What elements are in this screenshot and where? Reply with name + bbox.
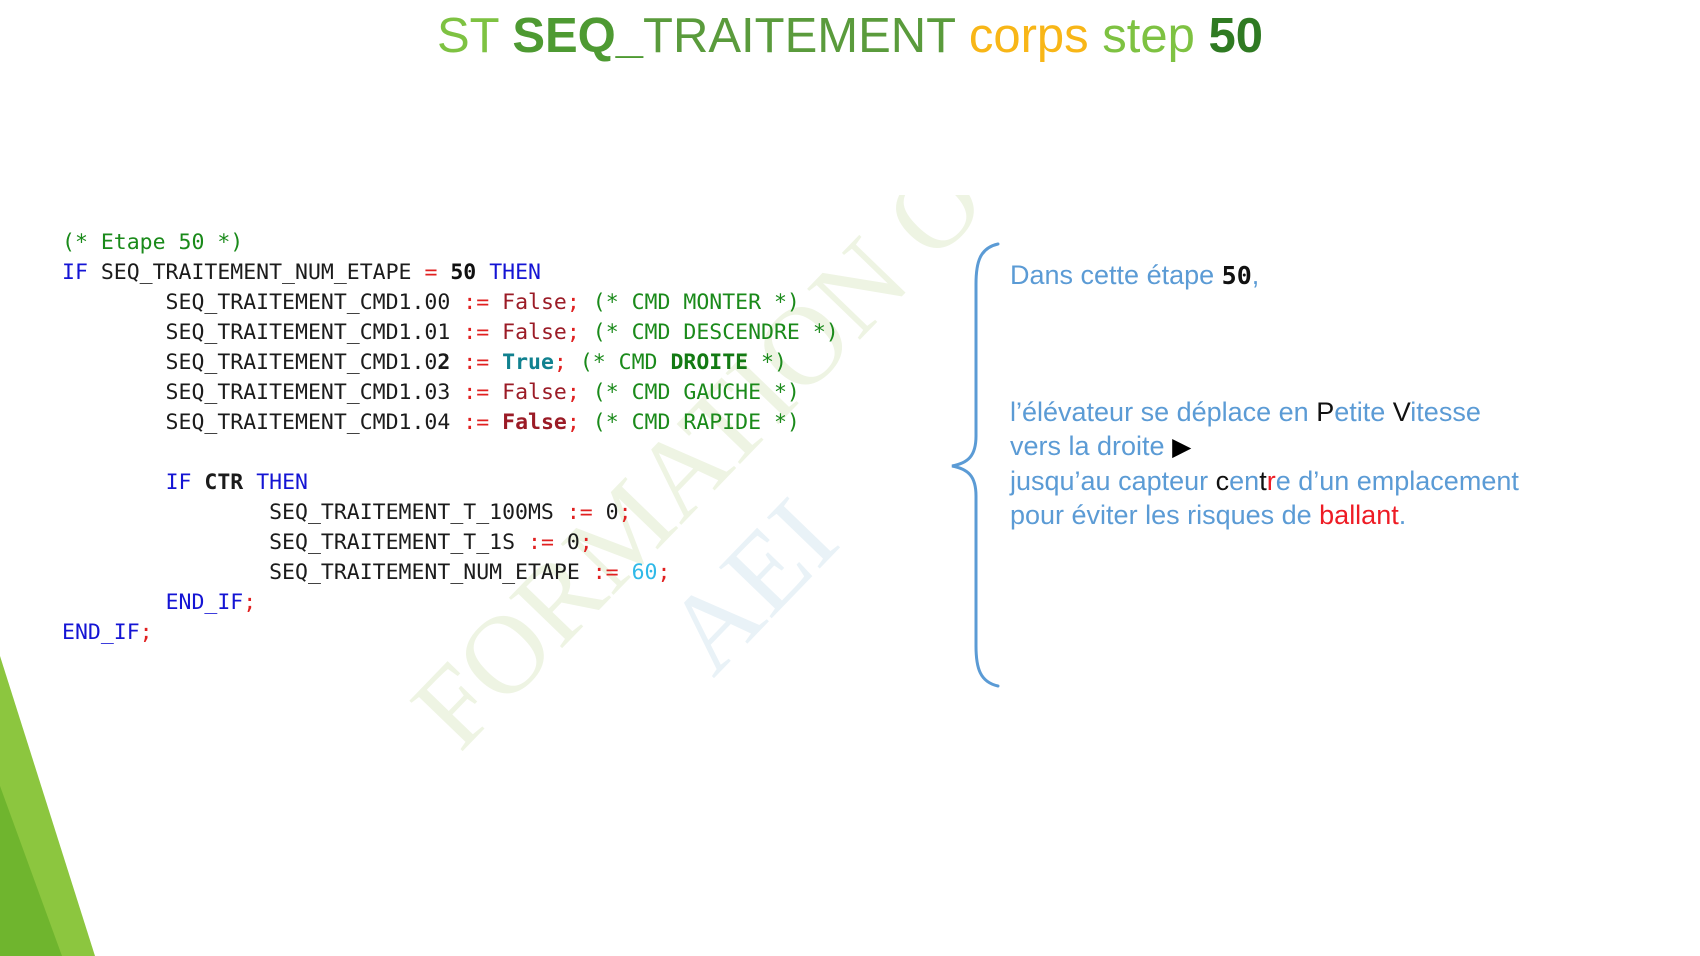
annotation-desc-token: pour éviter les risques de [1010,500,1319,530]
title-part-corps: corps [955,9,1102,63]
code-line: SEQ_TRAITEMENT_CMD1.04 := False; (* CMD … [62,408,839,438]
code-token: END_IF [166,590,244,615]
code-token: END_IF [62,620,140,645]
code-line: (* Etape 50 *) [62,228,839,258]
code-token [489,350,502,375]
code-token: False [502,410,567,435]
page-title: ST SEQ_TRAITEMENT corps step 50 [0,6,1700,66]
annotation-desc-token: e d’un emplacement [1276,466,1519,496]
code-token [580,380,593,405]
slide-canvas: FORMATION OUEST AEI ST SEQ_TRAITEMENT co… [0,0,1700,956]
code-token: SEQ_TRAITEMENT_CMD1.00 [62,290,463,315]
code-line: IF SEQ_TRAITEMENT_NUM_ETAPE = 50 THEN [62,258,839,288]
code-token [580,320,593,345]
annotation-desc-token: etite [1334,397,1393,427]
annotation-desc-token: P [1316,397,1334,427]
code-token: ; [554,350,567,375]
annotation-intro-token: , [1252,260,1260,290]
code-line [62,438,839,468]
code-token: SEQ_TRAITEMENT_T_1S [62,530,528,555]
code-line: SEQ_TRAITEMENT_T_100MS := 0; [62,498,839,528]
annotation-desc-token: ▶ [1172,433,1191,461]
annotation-step-intro: Dans cette étape 50, [1010,258,1259,293]
code-token: (* CMD MONTER *) [593,290,800,315]
code-line: END_IF; [62,618,839,648]
title-part-seq: SEQ_ [512,9,643,63]
annotation-desc-token: t [1259,466,1267,496]
code-block: (* Etape 50 *)IF SEQ_TRAITEMENT_NUM_ETAP… [62,228,839,648]
annotation-desc-token: en [1229,466,1259,496]
code-token: ; [243,590,256,615]
code-token [437,260,450,285]
code-token [191,470,204,495]
code-token: := [567,500,593,525]
code-token [593,500,606,525]
code-token: SEQ_TRAITEMENT_CMD1.04 [62,410,463,435]
code-token: 0 [606,500,619,525]
code-token [489,410,502,435]
code-token: THEN [489,260,541,285]
code-token: (* CMD [580,350,671,375]
code-token: SEQ_TRAITEMENT_CMD1.03 [62,380,463,405]
code-token [619,560,632,585]
code-line: SEQ_TRAITEMENT_CMD1.00 := False; (* CMD … [62,288,839,318]
annotation-desc-token: r [1267,466,1276,496]
code-token: 60 [632,560,658,585]
title-part-number: 50 [1209,9,1264,63]
title-part-step: step [1102,9,1208,63]
code-token [489,380,502,405]
code-token [567,350,580,375]
code-token: DROITE [670,350,748,375]
code-token: := [463,410,489,435]
code-token: False [502,290,567,315]
code-token: = [424,260,437,285]
annotation-desc-token: c [1216,466,1230,496]
code-token: ; [567,320,580,345]
annotation-intro-token: 50 [1222,261,1252,290]
annotation-desc-token: l’élévateur se déplace en [1010,397,1316,427]
annotation-desc-token: jusqu’au capteur [1010,466,1216,496]
code-token: := [463,380,489,405]
code-token [489,320,502,345]
code-token: False [502,380,567,405]
code-token: := [593,560,619,585]
annotation-desc-token: . [1399,500,1407,530]
code-token: IF [166,470,192,495]
code-token: SEQ_TRAITEMENT_CMD1.01 [62,320,463,345]
code-token [62,470,166,495]
code-token: False [502,320,567,345]
code-token: 50 [450,260,476,285]
code-token: ; [567,290,580,315]
code-token: := [528,530,554,555]
annotation-desc-token: itesse [1410,397,1481,427]
code-token [450,350,463,375]
annotation-desc-token: ballant [1319,500,1399,530]
code-token: SEQ_TRAITEMENT_T_100MS [62,500,567,525]
code-token: := [463,320,489,345]
code-token: ; [657,560,670,585]
code-token: ; [567,380,580,405]
code-token: (* Etape 50 *) [62,230,243,255]
code-token: SEQ_TRAITEMENT_NUM_ETAPE [88,260,425,285]
code-token: THEN [256,470,308,495]
code-token: := [463,290,489,315]
code-line: IF CTR THEN [62,468,839,498]
code-token [580,410,593,435]
code-token: True [502,350,554,375]
code-token: CTR [204,470,243,495]
code-token [243,470,256,495]
code-token [489,290,502,315]
code-line: SEQ_TRAITEMENT_NUM_ETAPE := 60; [62,558,839,588]
code-token [62,590,166,615]
title-part-st: ST [437,9,512,63]
code-token: SEQ_TRAITEMENT_CMD1.0 [62,350,437,375]
code-token: ; [567,410,580,435]
code-line: END_IF; [62,588,839,618]
annotation-desc-token: vers la droite [1010,431,1172,461]
code-token: ; [580,530,593,555]
code-token: ; [140,620,153,645]
code-token: ; [619,500,632,525]
annotation-step-description: l’élévateur se déplace en Petite Vitesse… [1010,395,1610,532]
curly-brace [940,240,1010,690]
code-token [580,290,593,315]
code-token: *) [748,350,787,375]
code-token: (* CMD RAPIDE *) [593,410,800,435]
code-token: (* CMD DESCENDRE *) [593,320,839,345]
code-token: (* CMD GAUCHE *) [593,380,800,405]
code-token: IF [62,260,88,285]
code-line: SEQ_TRAITEMENT_CMD1.01 := False; (* CMD … [62,318,839,348]
code-token: := [463,350,489,375]
code-line: SEQ_TRAITEMENT_T_1S := 0; [62,528,839,558]
title-part-traitement: TRAITEMENT [643,9,955,63]
annotation-desc-token: V [1393,397,1411,427]
code-line: SEQ_TRAITEMENT_CMD1.02 := True; (* CMD D… [62,348,839,378]
code-token [554,530,567,555]
code-token: 0 [567,530,580,555]
code-line: SEQ_TRAITEMENT_CMD1.03 := False; (* CMD … [62,378,839,408]
code-token: 2 [437,350,450,375]
code-token [62,440,75,465]
code-token: SEQ_TRAITEMENT_NUM_ETAPE [62,560,593,585]
code-token [476,260,489,285]
annotation-intro-token: Dans cette étape [1010,260,1222,290]
